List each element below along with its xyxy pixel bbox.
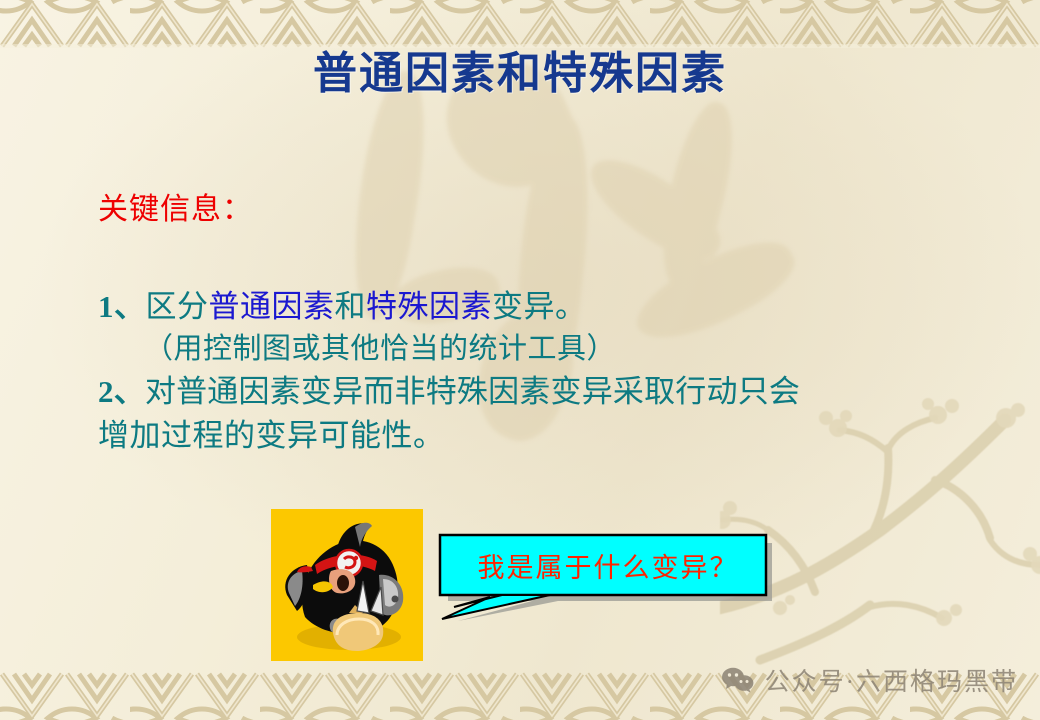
channel-watermark: 公众号·六西格玛黑带 — [721, 662, 1018, 698]
bullet-1-seg-e: 变异。 — [492, 289, 587, 324]
spacer — [98, 229, 978, 285]
bullet-1-subtext: （用控制图或其他恰当的统计工具） — [98, 329, 978, 370]
slide-body: 关键信息： 1、区分普通因素和特殊因素变异。 （用控制图或其他恰当的统计工具） … — [98, 190, 978, 458]
bullet-1-seg-b: 普通因素 — [209, 289, 335, 324]
slide-title: 普通因素和特殊因素 — [0, 48, 1040, 100]
wechat-icon — [721, 666, 755, 694]
bullet-point-2-line-2: 增加过程的变异可能性。 — [98, 414, 978, 458]
bullet-1-seg-d: 特殊因素 — [366, 289, 492, 324]
bullet-2-number: 2、 — [98, 374, 145, 409]
bullet-1-number: 1、 — [98, 289, 146, 324]
key-info-label: 关键信息： — [98, 190, 978, 229]
speech-bubble: 我是属于什么变异？ — [436, 531, 780, 623]
slide-canvas: 普通因素和特殊因素 关键信息： 1、区分普通因素和特殊因素变异。 （用控制图或其… — [0, 0, 1040, 720]
bullet-2-text-line1: 对普通因素变异而非特殊因素变异采取行动只会 — [145, 374, 800, 409]
cartoon-image — [271, 509, 423, 661]
channel-watermark-text: 公众号·六西格玛黑带 — [765, 662, 1018, 698]
speech-bubble-text: 我是属于什么变异？ — [458, 543, 758, 587]
decorative-border-top — [0, 0, 1040, 48]
bullet-1-seg-a: 区分 — [146, 289, 209, 324]
bullet-point-1: 1、区分普通因素和特殊因素变异。 — [98, 285, 978, 329]
bullet-point-2-line-1: 2、对普通因素变异而非特殊因素变异采取行动只会 — [98, 370, 978, 414]
bullet-1-seg-c: 和 — [335, 289, 367, 324]
